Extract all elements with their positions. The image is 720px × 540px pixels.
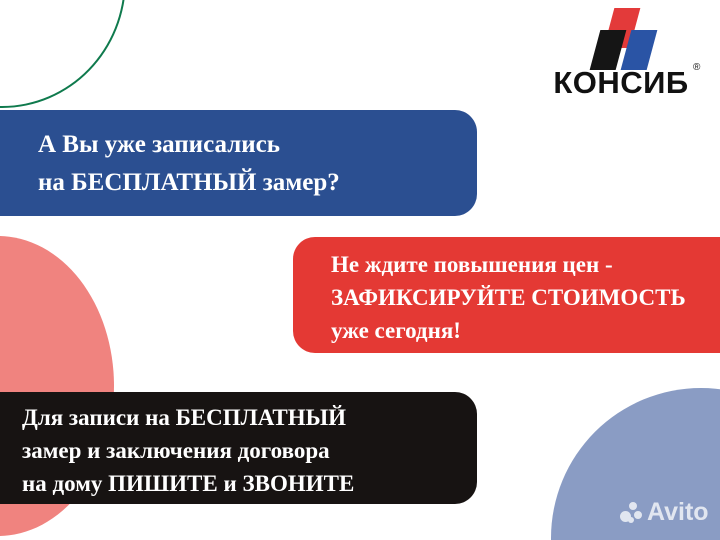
headline-banner-blue-line-2: на БЕСПЛАТНЫЙ замер? — [38, 164, 477, 202]
logo-mark-icon — [582, 8, 662, 70]
cta-banner-black-line-1: Для записи на БЕСПЛАТНЫЙ — [22, 401, 477, 434]
logo-parallelogram-black-icon — [590, 30, 627, 70]
headline-banner-blue: А Вы уже записались на БЕСПЛАТНЫЙ замер? — [0, 110, 477, 216]
registered-trademark-icon: ® — [693, 62, 700, 73]
company-logo: КОНСИБ ® — [530, 8, 712, 104]
offer-banner-red-line-2: ЗАФИКСИРУЙТЕ СТОИМОСТЬ — [331, 281, 720, 314]
avito-watermark-label: Avito — [647, 500, 709, 525]
offer-banner-red-line-3: уже сегодня! — [331, 314, 720, 347]
cta-banner-black: Для записи на БЕСПЛАТНЫЙ замер и заключе… — [0, 392, 477, 504]
headline-banner-blue-line-1: А Вы уже записались — [38, 126, 477, 164]
cta-banner-black-line-3: на дому ПИШИТЕ и ЗВОНИТЕ — [22, 467, 477, 500]
green-circle-outline-decoration — [0, 0, 126, 108]
avito-watermark: Avito — [620, 500, 709, 525]
cta-banner-black-line-2: замер и заключения договора — [22, 434, 477, 467]
offer-banner-red: Не ждите повышения цен - ЗАФИКСИРУЙТЕ СТ… — [293, 237, 720, 353]
offer-banner-red-line-1: Не ждите повышения цен - — [331, 248, 720, 281]
avito-dots-icon — [620, 502, 642, 524]
logo-wordmark: КОНСИБ — [530, 66, 712, 100]
advertisement-banner-image: КОНСИБ ® А Вы уже записались на БЕСПЛАТН… — [0, 0, 720, 540]
